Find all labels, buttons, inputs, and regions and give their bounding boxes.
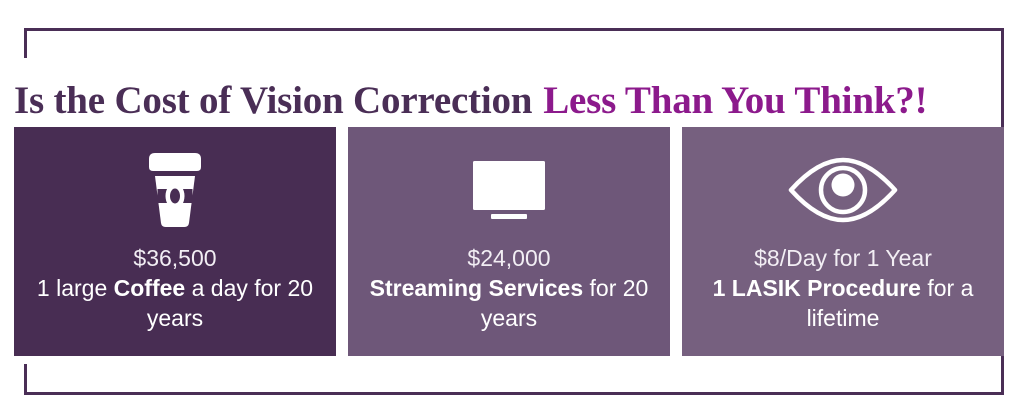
frame-top-border: [24, 28, 1004, 31]
cost-card-coffee-description: 1 large Coffee a day for 20 years: [24, 273, 326, 333]
cost-card-coffee-amount: $36,500: [24, 243, 326, 273]
desc-highlight: Streaming Services: [370, 275, 584, 301]
cost-card-lasik-description: 1 LASIK Procedure for a lifetime: [692, 273, 994, 333]
frame-left-bottom-stub: [24, 364, 27, 395]
page-title-accent: Less Than You Think?!: [543, 78, 927, 124]
frame-left-top-stub: [24, 28, 27, 58]
cost-card-lasik-text: $8/Day for 1 Year 1 LASIK Procedure for …: [682, 243, 1004, 333]
cost-card-streaming-amount: $24,000: [358, 243, 660, 273]
cost-card-coffee: $36,500 1 large Coffee a day for 20 year…: [14, 127, 336, 356]
page-title: Is the Cost of Vision Correction Less Th…: [14, 77, 1004, 125]
cost-card-coffee-text: $36,500 1 large Coffee a day for 20 year…: [14, 243, 336, 333]
cost-card-streaming-description: Streaming Services for 20 years: [358, 273, 660, 333]
frame-bottom-border: [24, 392, 1004, 395]
cost-card-lasik: $8/Day for 1 Year 1 LASIK Procedure for …: [682, 127, 1004, 356]
cost-comparison-cards: $36,500 1 large Coffee a day for 20 year…: [14, 127, 1004, 356]
eye-icon: [785, 151, 901, 229]
cost-card-streaming-text: $24,000 Streaming Services for 20 years: [348, 243, 670, 333]
cost-card-streaming: $24,000 Streaming Services for 20 years: [348, 127, 670, 356]
desc-before: 1 large: [37, 275, 114, 301]
page-title-primary: Is the Cost of Vision Correction: [14, 78, 532, 124]
cost-card-lasik-amount: $8/Day for 1 Year: [692, 243, 994, 273]
infographic-root: Is the Cost of Vision Correction Less Th…: [0, 0, 1024, 413]
coffee-cup-icon: [143, 151, 207, 229]
television-icon: [467, 151, 551, 229]
desc-highlight: Coffee: [114, 275, 186, 301]
desc-highlight: 1 LASIK Procedure: [713, 275, 921, 301]
